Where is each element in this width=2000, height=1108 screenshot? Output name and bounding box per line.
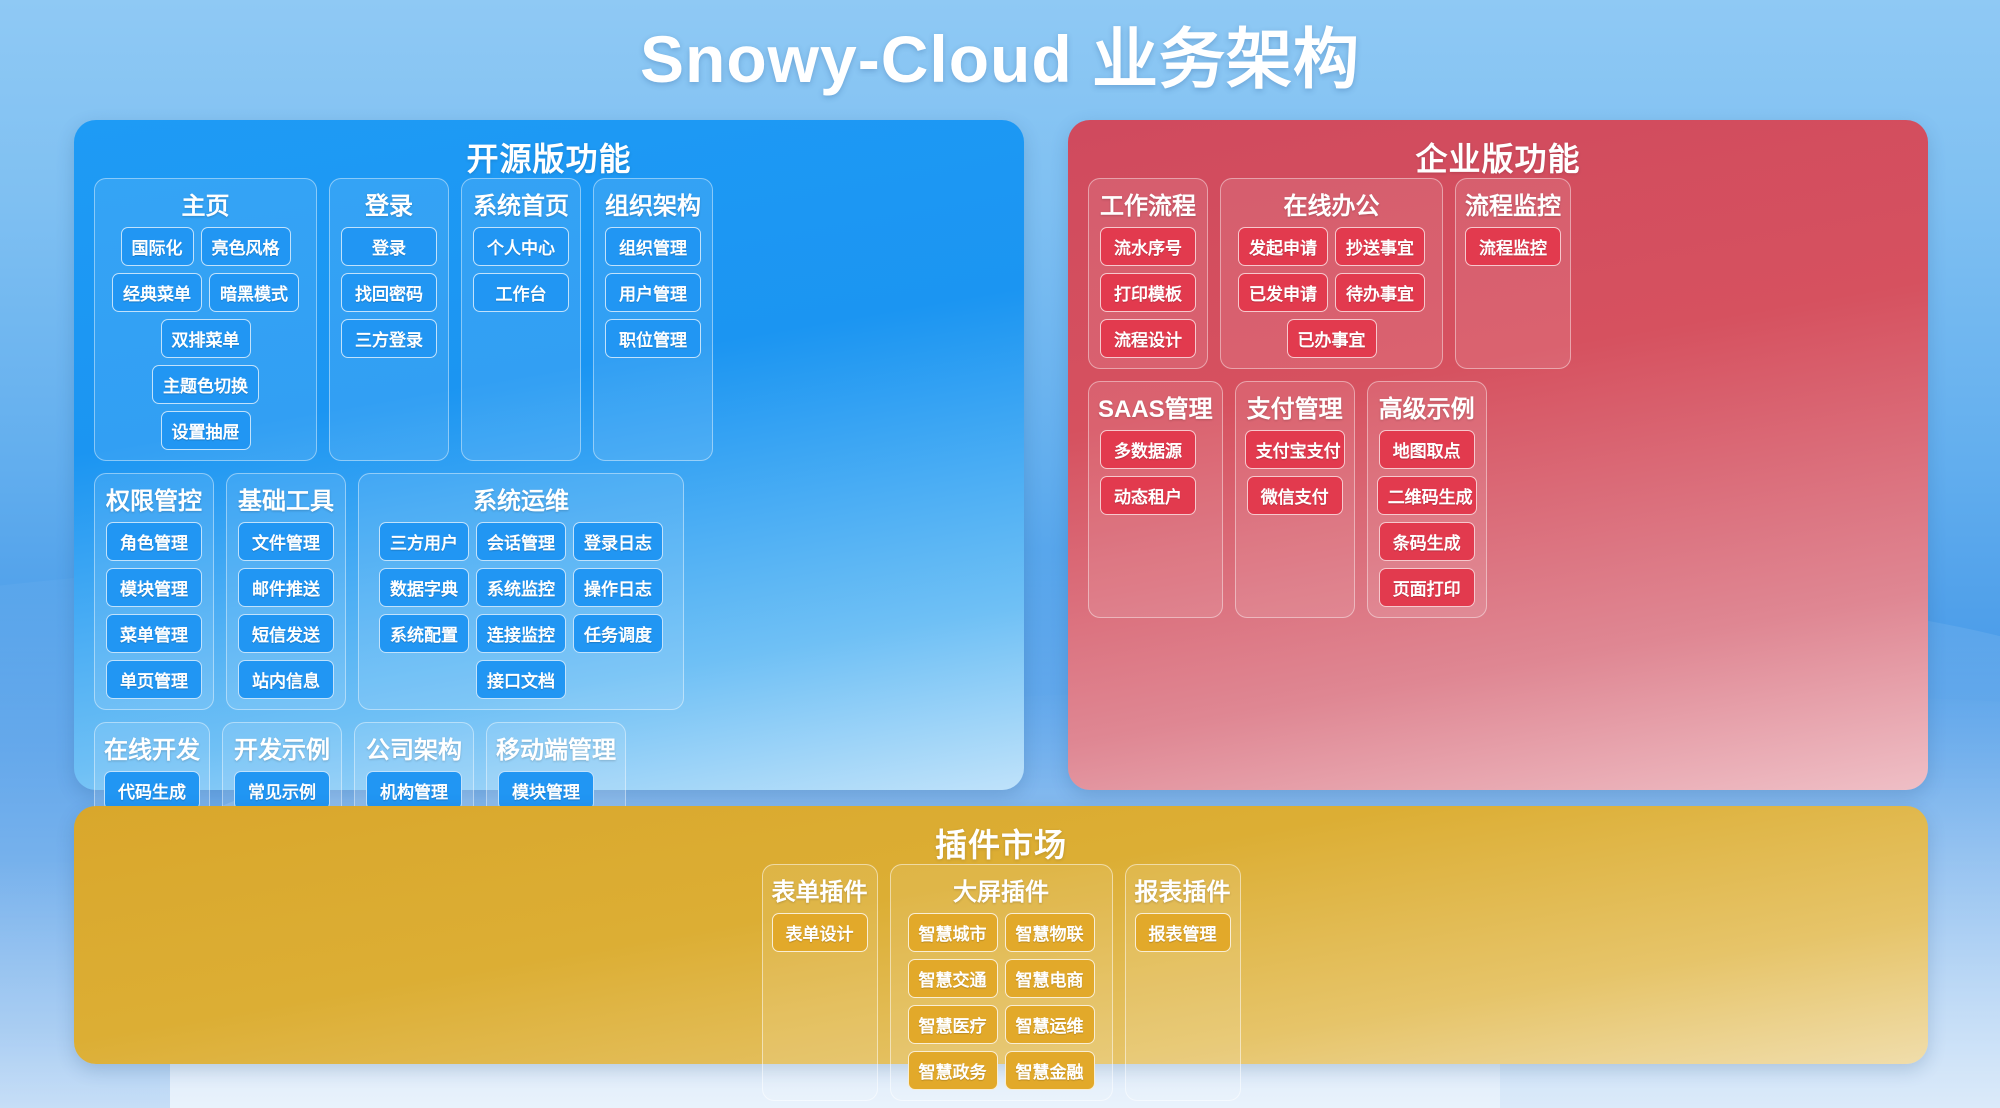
- feature-chip[interactable]: 系统监控: [476, 568, 566, 607]
- feature-chip[interactable]: 工作台: [473, 273, 569, 312]
- group-title: 系统运维: [368, 481, 674, 516]
- feature-chip[interactable]: 短信发送: [238, 614, 334, 653]
- feature-chip[interactable]: 条码生成: [1379, 522, 1475, 561]
- group-card: 报表插件报表管理: [1125, 864, 1241, 1101]
- group-card: 支付管理支付宝支付微信支付: [1235, 381, 1355, 618]
- panel-enterprise: 企业版功能 工作流程流水序号打印模板流程设计在线办公发起申请抄送事宜已发申请待办…: [1068, 120, 1928, 790]
- chip-list: 流水序号打印模板流程设计: [1098, 227, 1198, 358]
- feature-chip[interactable]: 发起申请: [1238, 227, 1328, 266]
- panel-title-open-source: 开源版功能: [74, 120, 1024, 180]
- feature-chip[interactable]: 双排菜单: [161, 319, 251, 358]
- feature-chip[interactable]: 经典菜单: [112, 273, 202, 312]
- feature-chip[interactable]: 操作日志: [573, 568, 663, 607]
- feature-chip[interactable]: 站内信息: [238, 660, 334, 699]
- group-title: 移动端管理: [496, 730, 616, 765]
- group-card: 基础工具文件管理邮件推送短信发送站内信息: [226, 473, 346, 710]
- chip-list: 个人中心工作台: [471, 227, 571, 312]
- feature-chip[interactable]: 流程设计: [1100, 319, 1196, 358]
- panel-title-enterprise: 企业版功能: [1068, 120, 1928, 180]
- feature-chip[interactable]: 国际化: [121, 227, 194, 266]
- feature-chip[interactable]: 单页管理: [106, 660, 202, 699]
- feature-chip[interactable]: 智慧城市: [908, 913, 998, 952]
- group-card: 高级示例地图取点二维码生成条码生成页面打印: [1367, 381, 1487, 618]
- feature-chip[interactable]: 会话管理: [476, 522, 566, 561]
- feature-chip[interactable]: 找回密码: [341, 273, 437, 312]
- chip-list: 国际化亮色风格经典菜单暗黑模式双排菜单主题色切换设置抽屉: [104, 227, 307, 450]
- feature-chip[interactable]: 智慧政务: [908, 1051, 998, 1090]
- group-title: 系统首页: [471, 186, 571, 221]
- feature-chip[interactable]: 支付宝支付: [1245, 430, 1345, 469]
- group-card: 表单插件表单设计: [762, 864, 878, 1101]
- group-title: SAAS管理: [1098, 389, 1213, 424]
- feature-chip[interactable]: 数据字典: [379, 568, 469, 607]
- chip-list: 多数据源动态租户: [1098, 430, 1198, 515]
- feature-chip[interactable]: 接口文档: [476, 660, 566, 699]
- group-row: 工作流程流水序号打印模板流程设计在线办公发起申请抄送事宜已发申请待办事宜已办事宜…: [1088, 178, 1908, 369]
- group-title: 登录: [339, 186, 439, 221]
- group-title: 权限管控: [104, 481, 204, 516]
- feature-chip[interactable]: 机构管理: [366, 771, 462, 810]
- feature-chip[interactable]: 智慧物联: [1005, 913, 1095, 952]
- group-title: 公司架构: [364, 730, 464, 765]
- feature-chip[interactable]: 多数据源: [1100, 430, 1196, 469]
- feature-chip[interactable]: 代码生成: [104, 771, 200, 810]
- panel-open-source: 开源版功能 主页国际化亮色风格经典菜单暗黑模式双排菜单主题色切换设置抽屉登录登录…: [74, 120, 1024, 790]
- chip-list: 支付宝支付微信支付: [1245, 430, 1345, 515]
- panel-title-plugin-market: 插件市场: [74, 806, 1928, 866]
- feature-chip[interactable]: 智慧电商: [1005, 959, 1095, 998]
- group-title: 大屏插件: [900, 872, 1103, 907]
- group-card: 组织架构组织管理用户管理职位管理: [593, 178, 713, 461]
- group-row: 主页国际化亮色风格经典菜单暗黑模式双排菜单主题色切换设置抽屉登录登录找回密码三方…: [94, 178, 1004, 461]
- feature-chip[interactable]: 模块管理: [498, 771, 594, 810]
- chip-list: 发起申请抄送事宜已发申请待办事宜已办事宜: [1230, 227, 1433, 358]
- group-card: 大屏插件智慧城市智慧物联智慧交通智慧电商智慧医疗智慧运维智慧政务智慧金融: [890, 864, 1113, 1101]
- chip-list: 三方用户会话管理登录日志数据字典系统监控操作日志系统配置连接监控任务调度接口文档: [368, 522, 674, 699]
- feature-chip[interactable]: 连接监控: [476, 614, 566, 653]
- chip-list: 文件管理邮件推送短信发送站内信息: [236, 522, 336, 699]
- chip-list: 组织管理用户管理职位管理: [603, 227, 703, 358]
- chip-list: 代码生成: [104, 771, 200, 810]
- page-title: Snowy-Cloud 业务架构: [0, 6, 2000, 102]
- feature-chip[interactable]: 已办事宜: [1287, 319, 1377, 358]
- group-title: 支付管理: [1245, 389, 1345, 424]
- feature-chip[interactable]: 二维码生成: [1377, 476, 1477, 515]
- feature-chip[interactable]: 用户管理: [605, 273, 701, 312]
- group-title: 开发示例: [232, 730, 332, 765]
- group-card: 流程监控流程监控: [1455, 178, 1571, 369]
- group-card: 权限管控角色管理模块管理菜单管理单页管理: [94, 473, 214, 710]
- group-title: 在线开发: [104, 730, 200, 765]
- group-card: 主页国际化亮色风格经典菜单暗黑模式双排菜单主题色切换设置抽屉: [94, 178, 317, 461]
- group-row: 权限管控角色管理模块管理菜单管理单页管理基础工具文件管理邮件推送短信发送站内信息…: [94, 473, 1004, 710]
- feature-chip[interactable]: 邮件推送: [238, 568, 334, 607]
- panel-body-enterprise: 工作流程流水序号打印模板流程设计在线办公发起申请抄送事宜已发申请待办事宜已办事宜…: [1068, 178, 1928, 630]
- group-title: 主页: [104, 186, 307, 221]
- feature-chip[interactable]: 打印模板: [1100, 273, 1196, 312]
- chip-list: 表单设计: [772, 913, 868, 952]
- feature-chip[interactable]: 登录: [341, 227, 437, 266]
- feature-chip[interactable]: 地图取点: [1379, 430, 1475, 469]
- feature-chip[interactable]: 已发申请: [1238, 273, 1328, 312]
- feature-chip[interactable]: 角色管理: [106, 522, 202, 561]
- chip-list: 登录找回密码三方登录: [339, 227, 439, 358]
- feature-chip[interactable]: 个人中心: [473, 227, 569, 266]
- group-row: 表单插件表单设计大屏插件智慧城市智慧物联智慧交通智慧电商智慧医疗智慧运维智慧政务…: [94, 864, 1908, 1101]
- feature-chip[interactable]: 模块管理: [106, 568, 202, 607]
- group-card: 系统首页个人中心工作台: [461, 178, 581, 461]
- feature-chip[interactable]: 三方用户: [379, 522, 469, 561]
- group-title: 高级示例: [1377, 389, 1477, 424]
- group-title: 在线办公: [1230, 186, 1433, 221]
- chip-list: 角色管理模块管理菜单管理单页管理: [104, 522, 204, 699]
- feature-chip[interactable]: 抄送事宜: [1335, 227, 1425, 266]
- group-card: 在线办公发起申请抄送事宜已发申请待办事宜已办事宜: [1220, 178, 1443, 369]
- group-title: 组织架构: [603, 186, 703, 221]
- feature-chip[interactable]: 流水序号: [1100, 227, 1196, 266]
- panel-body-plugin-market: 表单插件表单设计大屏插件智慧城市智慧物联智慧交通智慧电商智慧医疗智慧运维智慧政务…: [74, 864, 1928, 1108]
- feature-chip[interactable]: 页面打印: [1379, 568, 1475, 607]
- feature-chip[interactable]: 表单设计: [772, 913, 868, 952]
- group-title: 工作流程: [1098, 186, 1198, 221]
- feature-chip[interactable]: 动态租户: [1100, 476, 1196, 515]
- chip-list: 流程监控: [1465, 227, 1561, 266]
- group-title: 表单插件: [772, 872, 868, 907]
- chip-list: 报表管理: [1135, 913, 1231, 952]
- chip-list: 智慧城市智慧物联智慧交通智慧电商智慧医疗智慧运维智慧政务智慧金融: [900, 913, 1103, 1090]
- feature-chip[interactable]: 微信支付: [1247, 476, 1343, 515]
- group-title: 报表插件: [1135, 872, 1231, 907]
- feature-chip[interactable]: 系统配置: [379, 614, 469, 653]
- feature-chip[interactable]: 亮色风格: [201, 227, 291, 266]
- group-card: 登录登录找回密码三方登录: [329, 178, 449, 461]
- group-card: SAAS管理多数据源动态租户: [1088, 381, 1223, 618]
- feature-chip[interactable]: 智慧医疗: [908, 1005, 998, 1044]
- feature-chip[interactable]: 待办事宜: [1335, 273, 1425, 312]
- feature-chip[interactable]: 报表管理: [1135, 913, 1231, 952]
- feature-chip[interactable]: 登录日志: [573, 522, 663, 561]
- feature-chip[interactable]: 菜单管理: [106, 614, 202, 653]
- chip-list: 地图取点二维码生成条码生成页面打印: [1377, 430, 1477, 607]
- feature-chip[interactable]: 设置抽屉: [161, 411, 251, 450]
- group-title: 基础工具: [236, 481, 336, 516]
- feature-chip[interactable]: 任务调度: [573, 614, 663, 653]
- group-title: 流程监控: [1465, 186, 1561, 221]
- feature-chip[interactable]: 智慧金融: [1005, 1051, 1095, 1090]
- feature-chip[interactable]: 智慧运维: [1005, 1005, 1095, 1044]
- feature-chip[interactable]: 三方登录: [341, 319, 437, 358]
- feature-chip[interactable]: 文件管理: [238, 522, 334, 561]
- feature-chip[interactable]: 智慧交通: [908, 959, 998, 998]
- feature-chip[interactable]: 常见示例: [234, 771, 330, 810]
- feature-chip[interactable]: 组织管理: [605, 227, 701, 266]
- feature-chip[interactable]: 职位管理: [605, 319, 701, 358]
- group-card: 工作流程流水序号打印模板流程设计: [1088, 178, 1208, 369]
- feature-chip[interactable]: 暗黑模式: [209, 273, 299, 312]
- feature-chip[interactable]: 主题色切换: [152, 365, 259, 404]
- group-card: 系统运维三方用户会话管理登录日志数据字典系统监控操作日志系统配置连接监控任务调度…: [358, 473, 684, 710]
- diagram-canvas: Snowy-Cloud 业务架构 开源版功能 主页国际化亮色风格经典菜单暗黑模式…: [0, 0, 2000, 1108]
- panel-plugin-market: 插件市场 表单插件表单设计大屏插件智慧城市智慧物联智慧交通智慧电商智慧医疗智慧运…: [74, 806, 1928, 1064]
- feature-chip[interactable]: 流程监控: [1465, 227, 1561, 266]
- group-row: SAAS管理多数据源动态租户支付管理支付宝支付微信支付高级示例地图取点二维码生成…: [1088, 381, 1908, 618]
